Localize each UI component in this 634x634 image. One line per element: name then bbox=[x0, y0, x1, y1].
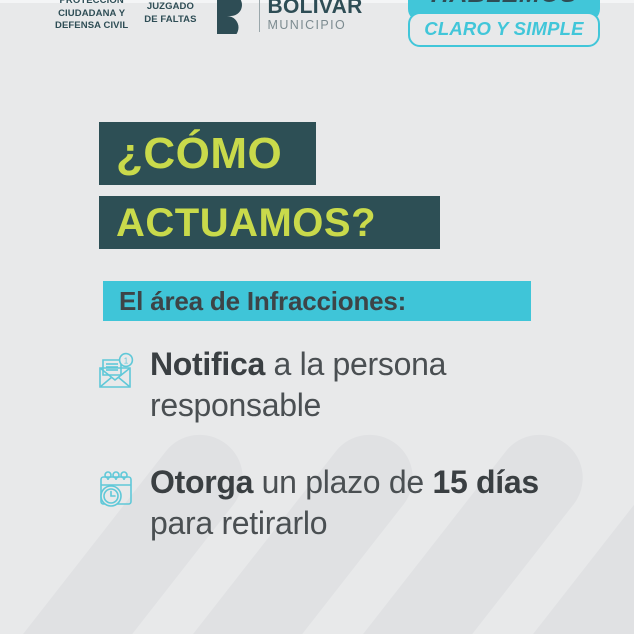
svg-text:1: 1 bbox=[124, 356, 129, 365]
bullet-2-rest-text: para retirarlo bbox=[150, 505, 327, 541]
juzgado-de-faltas-logo-text: JUZGADO DE FALTAS bbox=[144, 1, 196, 26]
header-bar: PROTECCIÓN CIUDADANA Y DEFENSA CIVIL JUZ… bbox=[0, 0, 634, 52]
bolivar-wordmark: BOLIVAR MUNICIPIO bbox=[268, 0, 363, 32]
bullet-2-bold-lead: Otorga bbox=[150, 464, 253, 500]
bullet-text-notifica: Notifica a la persona responsable bbox=[150, 344, 566, 426]
logo-group: PROTECCIÓN CIUDADANA Y DEFENSA CIVIL JUZ… bbox=[55, 0, 363, 34]
headline-block-line-2: ACTUAMOS? bbox=[99, 196, 440, 249]
hablemos-claro-y-simple-badge: HABLEMOS CLARO Y SIMPLE bbox=[408, 0, 600, 47]
calendar-clock-icon bbox=[96, 468, 140, 512]
bolivar-municipio-text: MUNICIPIO bbox=[268, 19, 363, 32]
bullet-item-notifica: 1 Notifica a la persona responsable bbox=[96, 344, 566, 426]
subtitle-highlight-bar: El área de Infracciones: bbox=[103, 281, 531, 321]
hablemos-badge-bottom: CLARO Y SIMPLE bbox=[408, 12, 600, 47]
subtitle-text: El área de Infracciones: bbox=[119, 286, 406, 317]
bullet-1-bold-word: Notifica bbox=[150, 346, 265, 382]
headline-block-line-1: ¿CÓMO bbox=[99, 122, 316, 185]
poster-canvas: PROTECCIÓN CIUDADANA Y DEFENSA CIVIL JUZ… bbox=[0, 0, 634, 634]
headline-line-2-text: ACTUAMOS? bbox=[116, 203, 376, 243]
bolivar-municipio-logo: BOLIVAR MUNICIPIO bbox=[215, 0, 363, 34]
logo-divider bbox=[259, 0, 260, 32]
bullet-2-bold-tail: 15 días bbox=[432, 464, 538, 500]
bullet-item-otorga: Otorga un plazo de 15 días para retirarl… bbox=[96, 462, 566, 544]
bullet-2-mid-text: un plazo de bbox=[253, 464, 432, 500]
claro-y-simple-text: CLARO Y SIMPLE bbox=[424, 18, 583, 39]
envelope-notification-icon: 1 bbox=[96, 350, 140, 394]
bullet-text-otorga: Otorga un plazo de 15 días para retirarl… bbox=[150, 462, 566, 544]
bolivar-name-text: BOLIVAR bbox=[268, 0, 363, 17]
headline-line-1-text: ¿CÓMO bbox=[116, 132, 282, 176]
bolivar-b-mark-icon bbox=[215, 0, 251, 34]
hablemos-text: HABLEMOS bbox=[431, 0, 577, 8]
proteccion-ciudadana-logo-text: PROTECCIÓN CIUDADANA Y DEFENSA CIVIL bbox=[55, 0, 128, 33]
